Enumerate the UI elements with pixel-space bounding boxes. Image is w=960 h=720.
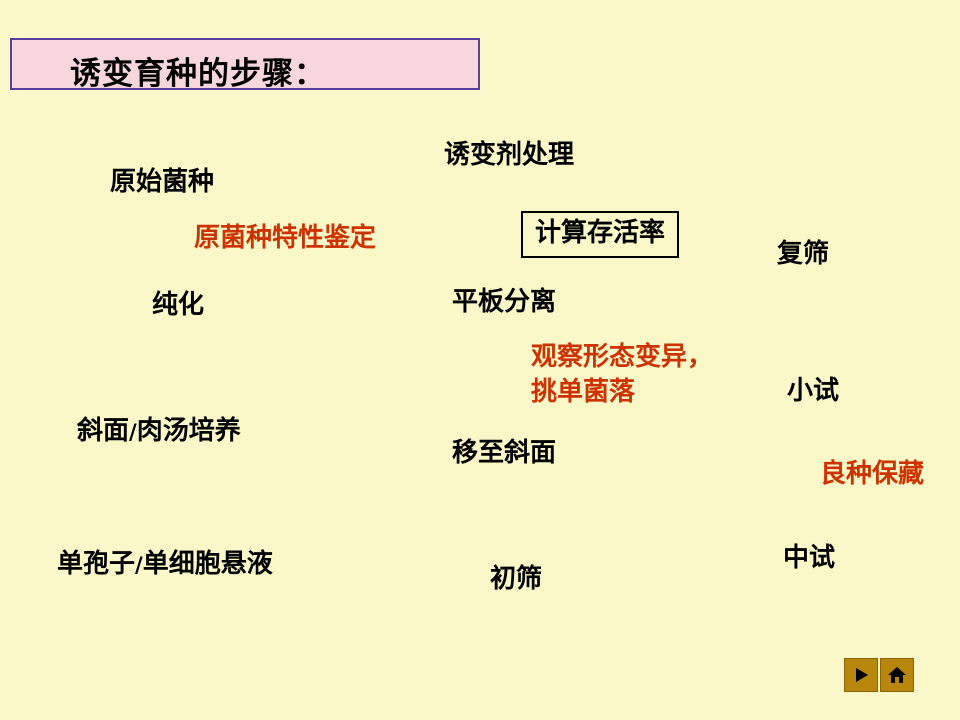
flow-node-fushai: 复筛 (777, 238, 829, 271)
flow-node-tiaodan-junluo: 挑单菌落 (531, 376, 635, 409)
next-slide-icon[interactable] (844, 658, 878, 692)
flow-node-yizhi-xiemian: 移至斜面 (452, 437, 556, 470)
flow-node-yuanshi-junzhong: 原始菌种 (110, 166, 214, 199)
flow-node-youbianji-chuli: 诱变剂处理 (444, 139, 574, 172)
flow-node-jisuan-cunhuolv: 计算存活率 (521, 211, 679, 258)
page-title: 诱变育种的步骤： (70, 48, 326, 93)
flow-node-chushai: 初筛 (490, 563, 542, 596)
flow-node-danbaozi-danxibao-xuanye: 单孢子/单细胞悬液 (57, 548, 273, 581)
slide-canvas: 诱变育种的步骤： 原始菌种诱变剂处理原菌种特性鉴定计算存活率复筛纯化平板分离观察… (0, 0, 960, 720)
home-icon[interactable] (880, 658, 914, 692)
flow-node-pingban-fenli: 平板分离 (452, 286, 556, 319)
navigation-controls[interactable] (844, 658, 914, 692)
flow-node-zhongshi: 中试 (783, 542, 835, 575)
flow-node-guancha-xingtai-bianyi: 观察形态变异， (531, 341, 713, 374)
flow-node-yuanjunzhong-tedian-jianding: 原菌种特性鉴定 (194, 222, 376, 255)
flow-node-liangzhong-baocang: 良种保藏 (820, 458, 924, 491)
flow-node-chunhua: 纯化 (152, 289, 204, 322)
flow-node-xiemian-rotang-peiyang: 斜面/肉汤培养 (77, 415, 241, 448)
flow-node-xiaoshi: 小试 (787, 375, 839, 408)
